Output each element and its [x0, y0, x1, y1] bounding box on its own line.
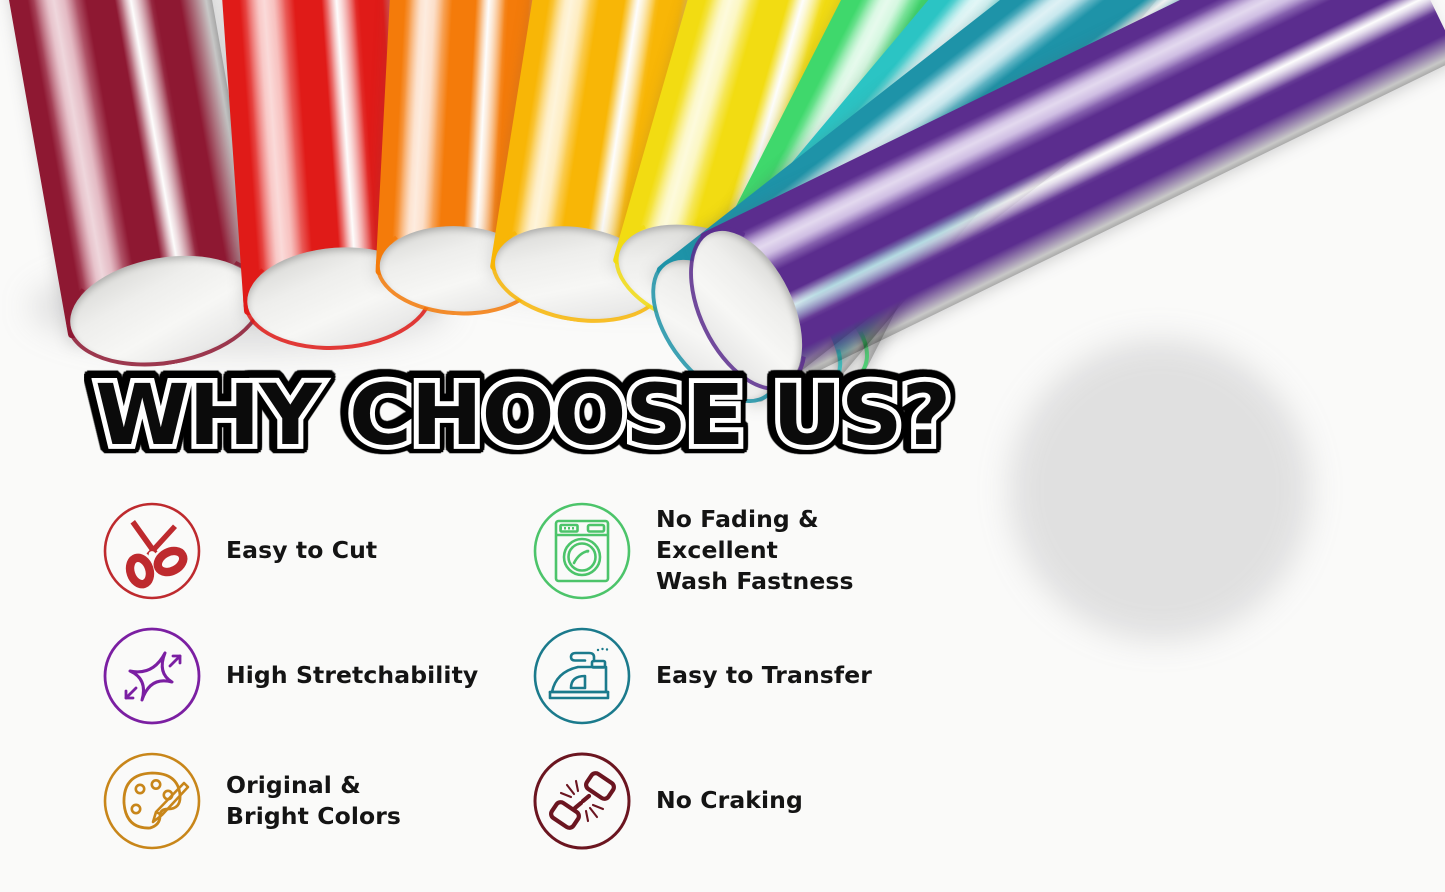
- scissors-icon: [100, 499, 204, 603]
- paint-palette-icon: [100, 749, 204, 853]
- feature-label: High Stretchability: [226, 660, 478, 691]
- feature-label: No Fading & Excellent Wash Fastness: [656, 504, 854, 596]
- feature-high-stretchability: High Stretchability: [100, 613, 530, 738]
- stretch-star-icon: [100, 624, 204, 728]
- feature-original-bright-colors: Original & Bright Colors: [100, 738, 530, 863]
- feature-no-craking: No Craking: [530, 738, 960, 863]
- feature-easy-to-cut: Easy to Cut: [100, 488, 530, 613]
- contact-shadow-right: [1010, 340, 1310, 640]
- page-title-text: WHY CHOOSE US?: [95, 374, 950, 457]
- feature-label: Easy to Cut: [226, 535, 377, 566]
- feature-label: Easy to Transfer: [656, 660, 872, 691]
- feature-no-fading-wash-fastness: No Fading & Excellent Wash Fastness: [530, 488, 960, 613]
- page-title: WHY CHOOSE US?: [95, 368, 895, 463]
- feature-list: Easy to Cut: [100, 488, 1000, 863]
- washing-machine-icon: [530, 499, 634, 603]
- broken-link-icon: [530, 749, 634, 853]
- feature-easy-to-transfer: Easy to Transfer: [530, 613, 960, 738]
- iron-icon: [530, 624, 634, 728]
- feature-label: No Craking: [656, 785, 803, 816]
- feature-label: Original & Bright Colors: [226, 770, 401, 832]
